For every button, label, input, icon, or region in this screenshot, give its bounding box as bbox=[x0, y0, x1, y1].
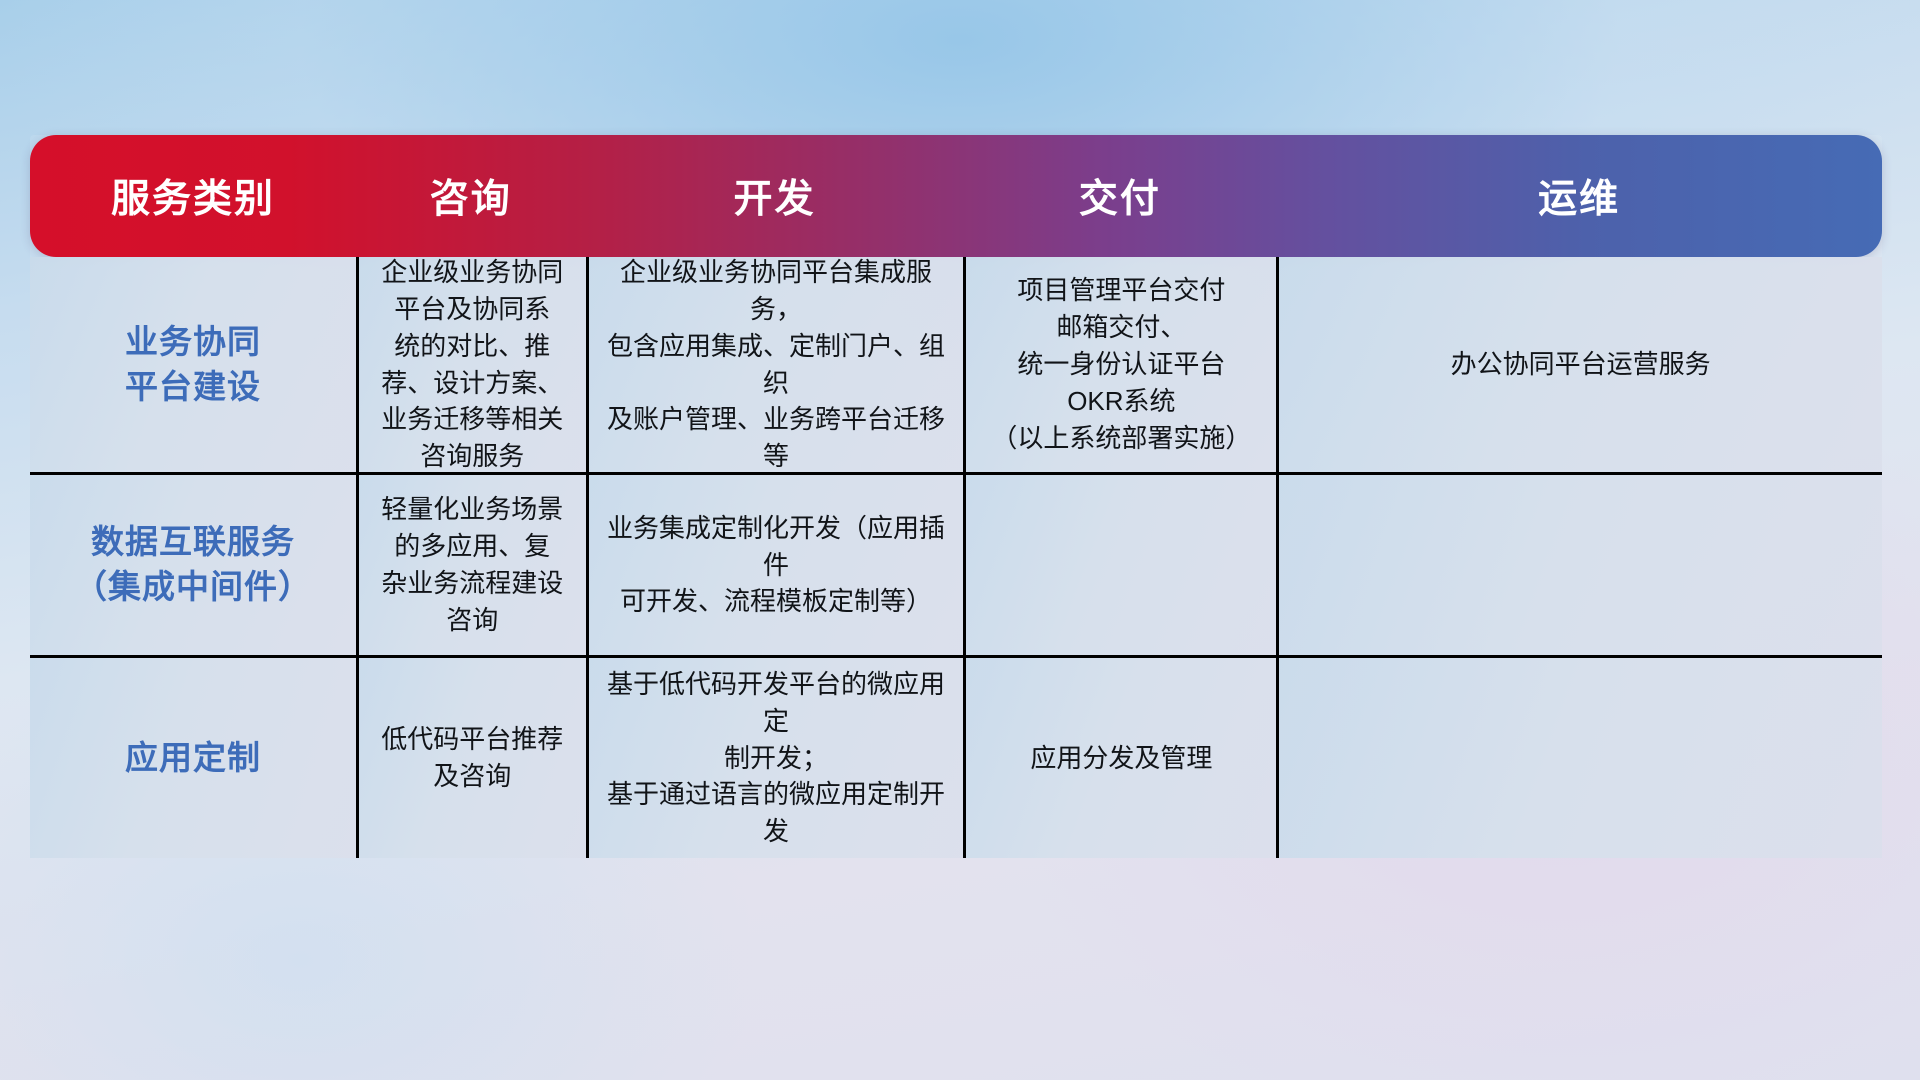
header-label: 交付 bbox=[1079, 168, 1161, 224]
row-label: 业务协同 平台建设 bbox=[125, 320, 261, 409]
slide-canvas: 服务类别 咨询 开发 交付 运维 业务协同 平台建设 企业级业务 bbox=[0, 0, 1920, 1080]
cell-text: 轻量化业务场景的多应用、复 杂业务流程建设咨询 bbox=[377, 491, 568, 639]
cell-text: 应用分发及管理 bbox=[1030, 740, 1212, 777]
table-header-delivery: 交付 bbox=[963, 135, 1276, 257]
cell-development: 基于低代码开发平台的微应用定 制开发； 基于通过语言的微应用定制开发 bbox=[586, 658, 964, 858]
header-label: 开发 bbox=[733, 168, 815, 224]
table-header-operations: 运维 bbox=[1276, 135, 1882, 257]
table-body: 业务协同 平台建设 企业级业务协同平台及协同系 统的对比、推荐、设计方案、 业务… bbox=[30, 257, 1882, 858]
table-header-consulting: 咨询 bbox=[356, 135, 586, 257]
header-label: 运维 bbox=[1538, 168, 1620, 224]
cell-consulting: 企业级业务协同平台及协同系 统的对比、推荐、设计方案、 业务迁移等相关咨询服务 bbox=[356, 257, 586, 472]
service-matrix-table: 服务类别 咨询 开发 交付 运维 业务协同 平台建设 企业级业务 bbox=[30, 135, 1882, 858]
cell-text: 低代码平台推荐及咨询 bbox=[377, 721, 568, 795]
table-header-development: 开发 bbox=[586, 135, 964, 257]
cell-consulting: 轻量化业务场景的多应用、复 杂业务流程建设咨询 bbox=[356, 475, 586, 655]
cell-text: 企业级业务协同平台集成服务， 包含应用集成、定制门户、组织 及账户管理、业务跨平… bbox=[607, 254, 946, 475]
table-header-row: 服务类别 咨询 开发 交付 运维 bbox=[30, 135, 1882, 257]
cell-operations bbox=[1276, 475, 1882, 655]
row-label: 数据互联服务 （集成中间件） bbox=[74, 520, 312, 609]
table-row: 业务协同 平台建设 企业级业务协同平台及协同系 统的对比、推荐、设计方案、 业务… bbox=[30, 257, 1882, 472]
cell-text: 办公协同平台运营服务 bbox=[1451, 346, 1711, 383]
cell-text: 基于低代码开发平台的微应用定 制开发； 基于通过语言的微应用定制开发 bbox=[607, 666, 946, 851]
table-row: 数据互联服务 （集成中间件） 轻量化业务场景的多应用、复 杂业务流程建设咨询 业… bbox=[30, 472, 1882, 655]
cell-development: 企业级业务协同平台集成服务， 包含应用集成、定制门户、组织 及账户管理、业务跨平… bbox=[586, 257, 964, 472]
cell-text: 业务集成定制化开发（应用插件 可开发、流程模板定制等） bbox=[607, 510, 946, 621]
row-label-cell: 应用定制 bbox=[30, 658, 356, 858]
cell-development: 业务集成定制化开发（应用插件 可开发、流程模板定制等） bbox=[586, 475, 964, 655]
cell-text: 企业级业务协同平台及协同系 统的对比、推荐、设计方案、 业务迁移等相关咨询服务 bbox=[377, 254, 568, 475]
header-label: 咨询 bbox=[430, 168, 512, 224]
table-row: 应用定制 低代码平台推荐及咨询 基于低代码开发平台的微应用定 制开发； 基于通过… bbox=[30, 655, 1882, 858]
cell-delivery: 应用分发及管理 bbox=[963, 658, 1276, 858]
cell-consulting: 低代码平台推荐及咨询 bbox=[356, 658, 586, 858]
cell-text: 项目管理平台交付 邮箱交付、 统一身份认证平台 OKR系统 （以上系统部署实施） bbox=[991, 272, 1251, 457]
table-header-service-category: 服务类别 bbox=[30, 135, 356, 257]
cell-operations: 办公协同平台运营服务 bbox=[1276, 257, 1882, 472]
row-label: 应用定制 bbox=[125, 736, 261, 781]
row-label-cell: 数据互联服务 （集成中间件） bbox=[30, 475, 356, 655]
cell-operations bbox=[1276, 658, 1882, 858]
cell-delivery: 项目管理平台交付 邮箱交付、 统一身份认证平台 OKR系统 （以上系统部署实施） bbox=[963, 257, 1276, 472]
header-label: 服务类别 bbox=[111, 168, 275, 224]
row-label-cell: 业务协同 平台建设 bbox=[30, 257, 356, 472]
cell-delivery bbox=[963, 475, 1276, 655]
